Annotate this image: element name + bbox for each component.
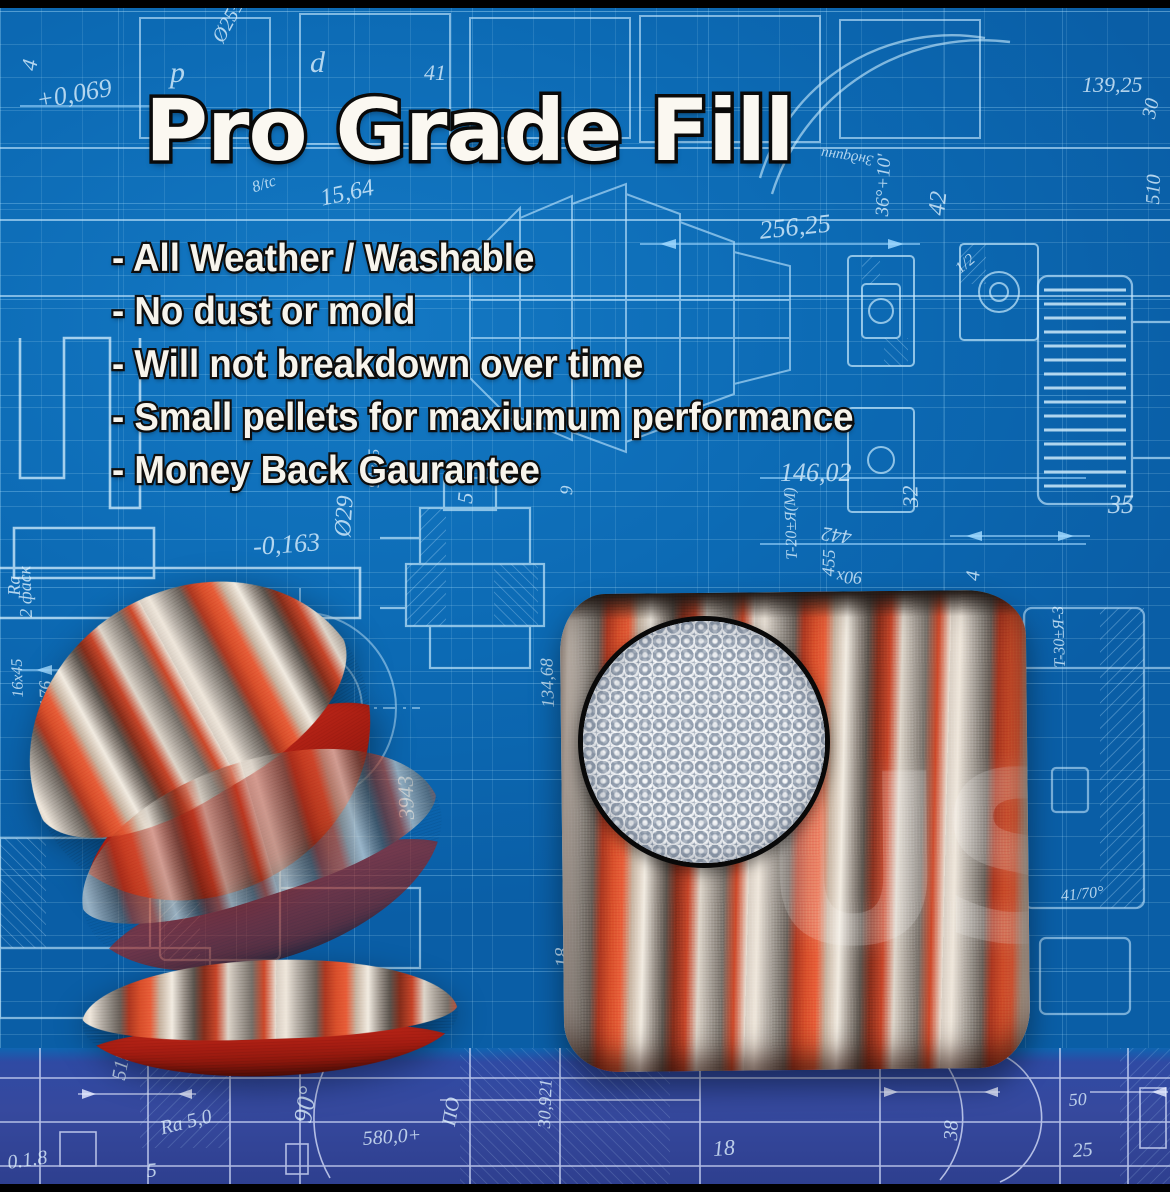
blueprint-dimension-label: 36°+10' bbox=[872, 154, 896, 217]
pellet-closeup-inset bbox=[578, 616, 830, 868]
blueprint-dimension-label: 25 bbox=[1072, 1139, 1094, 1163]
list-item: - Will not breakdown over time bbox=[112, 338, 986, 391]
cornhole-bag-flat-bottom bbox=[80, 953, 460, 1082]
feature-list: - All Weather / Washable - No dust or mo… bbox=[112, 232, 1042, 497]
blueprint-dimension-label: T-20±Я(M) bbox=[781, 487, 802, 560]
blueprint-dimension-label: 510 bbox=[1142, 174, 1166, 205]
blueprint-dimension-label: 139,25 bbox=[1082, 72, 1143, 98]
list-item: - No dust or mold bbox=[112, 285, 986, 338]
blueprint-dimension-label: 30,921 bbox=[534, 1079, 557, 1129]
bag-weave-texture bbox=[80, 953, 460, 1082]
blueprint-dimension-label: 18 bbox=[712, 1134, 736, 1161]
blueprint-dimension-label: d bbox=[310, 46, 325, 80]
blueprint-dimension-label: 90x bbox=[836, 566, 863, 588]
blueprint-dimension-label: 5 bbox=[146, 1159, 158, 1183]
blueprint-dimension-label: Ø29 bbox=[330, 495, 360, 538]
letterbox-bar-bottom bbox=[0, 1184, 1170, 1192]
blueprint-dimension-label: 42 bbox=[924, 190, 953, 217]
poster-canvas: +0,0694pØ25±6d41139,253015,648/tc256,253… bbox=[0, 0, 1170, 1192]
blueprint-dimension-label: 580,0+ bbox=[362, 1124, 422, 1151]
list-item: - Small pellets for maxiumum performance bbox=[112, 391, 986, 444]
blueprint-dimension-label: T-30±Я-3 bbox=[1050, 606, 1070, 668]
blueprint-dimension-label: 38 bbox=[940, 1120, 964, 1141]
page-title: Pro Grade Fill bbox=[145, 88, 794, 174]
list-item: - Money Back Gaurantee bbox=[112, 444, 986, 497]
blueprint-dimension-label: 134,68 bbox=[536, 658, 559, 708]
blueprint-dimension-label: Ra bbox=[3, 575, 25, 596]
blueprint-dimension-label: 4 bbox=[962, 570, 986, 582]
letterbox-bar-top bbox=[0, 0, 1170, 8]
blueprint-dimension-label: 442 bbox=[820, 521, 853, 548]
list-item: - All Weather / Washable bbox=[112, 232, 986, 285]
pellet-vignette bbox=[583, 621, 825, 863]
blueprint-dimension-label: 90° bbox=[288, 1084, 324, 1125]
blueprint-dimension-label: 50 bbox=[1068, 1089, 1087, 1111]
blueprint-dimension-label: 35 bbox=[1108, 490, 1134, 520]
